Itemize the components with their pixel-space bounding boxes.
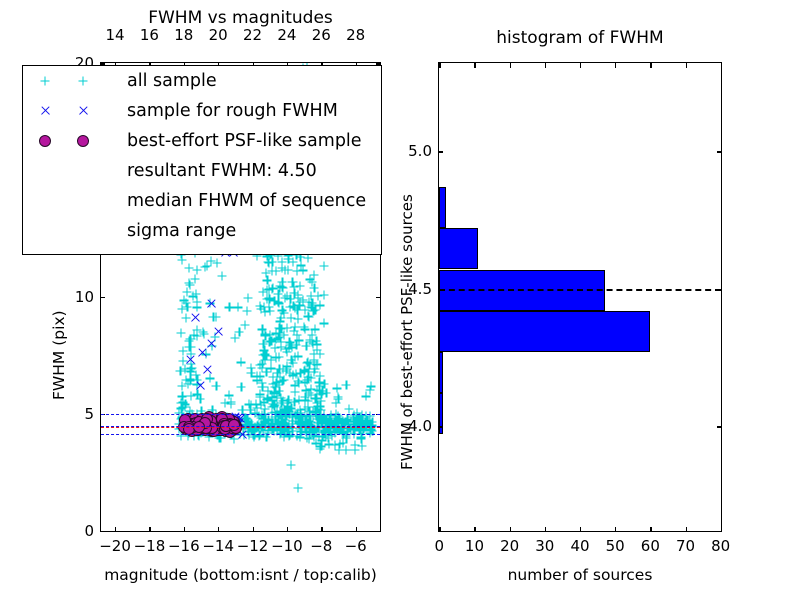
legend: all samplesample for rough FWHMbest-effo…	[22, 65, 382, 255]
scatter-point-rough-sample	[198, 348, 208, 358]
histogram-xtick-top	[580, 63, 581, 68]
scatter-point-all-sample	[301, 392, 310, 401]
scatter-ytick	[100, 531, 105, 532]
scatter-point-all-sample	[362, 392, 371, 401]
histogram-xticklabel: 40	[570, 537, 589, 555]
scatter-point-all-sample	[271, 353, 280, 362]
scatter-bottom-ticklabel: −12	[237, 537, 269, 555]
scatter-point-all-sample	[317, 442, 326, 451]
histogram-bar	[439, 393, 443, 434]
scatter-ytick-right	[376, 531, 381, 532]
histogram-xticklabel: 30	[535, 537, 554, 555]
scatter-xlabel: magnitude (bottom:isnt / top:calib)	[100, 566, 381, 584]
scatter-point-all-sample	[180, 365, 189, 374]
histogram-xtick-top	[439, 63, 440, 68]
histogram-xtick	[510, 527, 511, 532]
scatter-point-rough-sample	[206, 299, 216, 309]
scatter-point-all-sample	[184, 278, 193, 287]
scatter-bottom-ticklabel: −8	[310, 537, 332, 555]
scatter-yticklabel: 5	[66, 405, 94, 423]
scatter-top-ticklabel: 16	[140, 26, 159, 44]
histogram-xtick-top	[721, 63, 722, 68]
scatter-point-all-sample	[218, 272, 227, 281]
histogram-xtick	[650, 527, 651, 532]
scatter-point-all-sample	[225, 303, 234, 312]
scatter-point-all-sample	[314, 402, 323, 411]
scatter-point-all-sample	[287, 460, 296, 469]
scatter-point-all-sample	[181, 400, 190, 409]
scatter-point-all-sample	[225, 391, 234, 400]
scatter-hline-sigma-upper	[101, 414, 379, 415]
legend-item[interactable]: median FHWM of sequence	[23, 186, 381, 216]
histogram-xtick-top	[650, 63, 651, 68]
scatter-point-all-sample	[196, 395, 205, 404]
scatter-point-all-sample	[331, 399, 340, 408]
histogram-xticklabel: 10	[465, 537, 484, 555]
scatter-point-rough-sample	[206, 339, 216, 349]
scatter-hline-sigma-lower	[101, 434, 379, 435]
scatter-point-all-sample	[234, 303, 243, 312]
scatter-point-all-sample	[284, 428, 293, 437]
scatter-top-ticklabel: 28	[346, 26, 365, 44]
legend-item[interactable]: sigma range	[23, 216, 381, 246]
scatter-point-all-sample	[286, 369, 295, 378]
scatter-point-all-sample	[226, 400, 235, 409]
scatter-point-all-sample	[342, 380, 351, 389]
legend-item-label: all sample	[127, 71, 217, 91]
scatter-point-all-sample	[334, 411, 343, 420]
histogram-ytick	[438, 289, 443, 290]
scatter-hline-resultant-fwhm	[101, 426, 379, 427]
scatter-point-all-sample	[265, 337, 274, 346]
histogram-title: histogram of FWHM	[438, 28, 722, 48]
scatter-point-all-sample	[315, 378, 324, 387]
scatter-point-all-sample	[313, 340, 322, 349]
scatter-top-ticklabel: 22	[243, 26, 262, 44]
scatter-point-all-sample	[200, 329, 209, 338]
histogram-ytick	[438, 151, 443, 152]
histogram-xlabel: number of sources	[438, 566, 722, 584]
histogram-xtick	[615, 527, 616, 532]
legend-item-label: best-effort PSF-like sample	[127, 131, 362, 151]
scatter-bottom-ticklabel: −16	[168, 537, 200, 555]
plus-icon	[79, 77, 88, 86]
scatter-point-rough-sample	[213, 327, 223, 337]
histogram-yticklabel: 5.0	[396, 142, 432, 160]
scatter-point-all-sample	[319, 290, 328, 299]
histogram-ytick-right	[717, 426, 722, 427]
scatter-point-all-sample	[332, 384, 341, 393]
scatter-point-all-sample	[257, 379, 266, 388]
histogram-bar	[439, 187, 446, 228]
histogram-bar	[439, 311, 650, 352]
scatter-point-all-sample	[237, 382, 246, 391]
histogram-xtick	[474, 527, 475, 532]
legend-item-label: sigma range	[127, 221, 236, 241]
histogram-xtick	[439, 527, 440, 532]
scatter-point-all-sample	[319, 319, 328, 328]
scatter-point-all-sample	[273, 368, 282, 377]
histogram-xtick-top	[615, 63, 616, 68]
scatter-point-all-sample	[243, 306, 252, 315]
histogram-xticklabel: 50	[606, 537, 625, 555]
scatter-point-all-sample	[256, 301, 265, 310]
scatter-point-all-sample	[344, 405, 353, 414]
scatter-point-all-sample	[192, 371, 201, 380]
histogram-plot-area	[439, 63, 720, 530]
scatter-point-all-sample	[185, 343, 194, 352]
figure-canvas: FWHM vs magnitudes 1416182022242628 −20−…	[0, 0, 800, 600]
scatter-point-all-sample	[290, 303, 299, 312]
scatter-point-all-sample	[300, 322, 309, 331]
scatter-point-all-sample	[294, 352, 303, 361]
scatter-point-all-sample	[276, 283, 285, 292]
scatter-bottom-ticklabel: −14	[202, 537, 234, 555]
scatter-point-all-sample	[258, 363, 267, 372]
scatter-point-all-sample	[265, 285, 274, 294]
scatter-point-all-sample	[252, 403, 261, 412]
scatter-point-all-sample	[306, 275, 315, 284]
legend-item-label: resultant FWHM: 4.50	[127, 161, 317, 181]
scatter-point-all-sample	[351, 440, 360, 449]
histogram-xticklabel: 20	[500, 537, 519, 555]
scatter-point-all-sample	[192, 297, 201, 306]
scatter-bottom-ticklabel: −6	[345, 537, 367, 555]
filled-circle-icon	[39, 135, 51, 147]
histogram-ylabel: FWHM of best-effort PSF-like sources	[398, 194, 416, 470]
scatter-point-all-sample	[336, 440, 345, 449]
legend-item[interactable]: best-effort PSF-like sample	[23, 126, 381, 156]
legend-item[interactable]: all sample	[23, 66, 381, 96]
filled-circle-icon	[77, 135, 89, 147]
histogram-xtick	[545, 527, 546, 532]
scatter-point-all-sample	[263, 395, 272, 404]
scatter-point-all-sample	[316, 301, 325, 310]
scatter-top-ticklabel: 26	[312, 26, 331, 44]
scatter-point-rough-sample	[196, 381, 206, 391]
scatter-point-rough-sample	[203, 364, 213, 374]
scatter-point-all-sample	[176, 328, 185, 337]
scatter-bottom-ticklabel: −18	[134, 537, 166, 555]
scatter-point-all-sample	[280, 266, 289, 275]
scatter-yticklabel: 10	[66, 288, 94, 306]
scatter-point-rough-sample	[186, 355, 196, 365]
legend-item-label: sample for rough FWHM	[127, 101, 338, 121]
scatter-top-ticklabel: 20	[209, 26, 228, 44]
scatter-point-all-sample	[284, 396, 293, 405]
histogram-ytick-right	[717, 151, 722, 152]
histogram-xticklabel: 60	[641, 537, 660, 555]
histogram-bar	[439, 352, 443, 393]
scatter-title: FWHM vs magnitudes	[100, 8, 381, 28]
histogram-bar	[439, 228, 478, 269]
scatter-point-all-sample	[266, 307, 275, 316]
scatter-point-all-sample	[287, 340, 296, 349]
scatter-point-rough-sample	[191, 313, 201, 323]
scatter-point-all-sample	[209, 312, 218, 321]
histogram-xtick	[686, 527, 687, 532]
scatter-point-all-sample	[212, 382, 221, 391]
scatter-hline-median-fhwm	[101, 427, 379, 428]
scatter-point-all-sample	[184, 379, 193, 388]
scatter-point-all-sample	[182, 313, 191, 322]
scatter-point-all-sample	[200, 262, 209, 271]
histogram-reference-line	[439, 289, 720, 291]
scatter-point-all-sample	[320, 262, 329, 271]
legend-item[interactable]: resultant FWHM: 4.50	[23, 156, 381, 186]
scatter-point-all-sample	[270, 297, 279, 306]
cross-icon	[40, 106, 50, 116]
scatter-point-all-sample	[289, 278, 298, 287]
scatter-top-ticklabel: 18	[174, 26, 193, 44]
histogram-xtick-top	[686, 63, 687, 68]
scatter-bottom-ticklabel: −20	[99, 537, 131, 555]
histogram-xtick	[721, 527, 722, 532]
scatter-point-all-sample	[310, 325, 319, 334]
histogram-xticklabel: 70	[676, 537, 695, 555]
scatter-point-all-sample	[281, 294, 290, 303]
scatter-point-all-sample	[303, 358, 312, 367]
scatter-point-all-sample	[268, 266, 277, 275]
scatter-point-all-sample	[289, 327, 298, 336]
scatter-yticklabel: 0	[66, 522, 94, 540]
histogram-xtick	[580, 527, 581, 532]
scatter-point-all-sample	[244, 293, 253, 302]
scatter-bottom-ticklabel: −10	[271, 537, 303, 555]
scatter-point-all-sample	[294, 377, 303, 386]
legend-item-label: median FHWM of sequence	[127, 191, 366, 211]
histogram-xticklabel: 0	[435, 537, 445, 555]
scatter-point-all-sample	[231, 333, 240, 342]
scatter-point-all-sample	[297, 261, 306, 270]
scatter-top-ticklabel: 24	[277, 26, 296, 44]
histogram-xticklabel: 80	[711, 537, 730, 555]
scatter-point-all-sample	[185, 335, 194, 344]
legend-item[interactable]: sample for rough FWHM	[23, 96, 381, 126]
scatter-point-all-sample	[366, 382, 375, 391]
scatter-top-ticklabel: 14	[106, 26, 125, 44]
histogram-xtick-top	[474, 63, 475, 68]
histogram-xtick-top	[510, 63, 511, 68]
scatter-ylabel: FWHM (pix)	[50, 310, 68, 400]
scatter-point-all-sample	[304, 312, 313, 321]
scatter-point-all-sample	[302, 411, 311, 420]
histogram-xtick-top	[545, 63, 546, 68]
scatter-point-all-sample	[247, 369, 256, 378]
histogram-ytick	[438, 426, 443, 427]
histogram-ytick-right	[717, 289, 722, 290]
scatter-point-all-sample	[212, 258, 221, 267]
plus-icon	[41, 77, 50, 86]
scatter-point-all-sample	[236, 358, 245, 367]
scatter-point-all-sample	[294, 484, 303, 493]
cross-icon	[78, 106, 88, 116]
